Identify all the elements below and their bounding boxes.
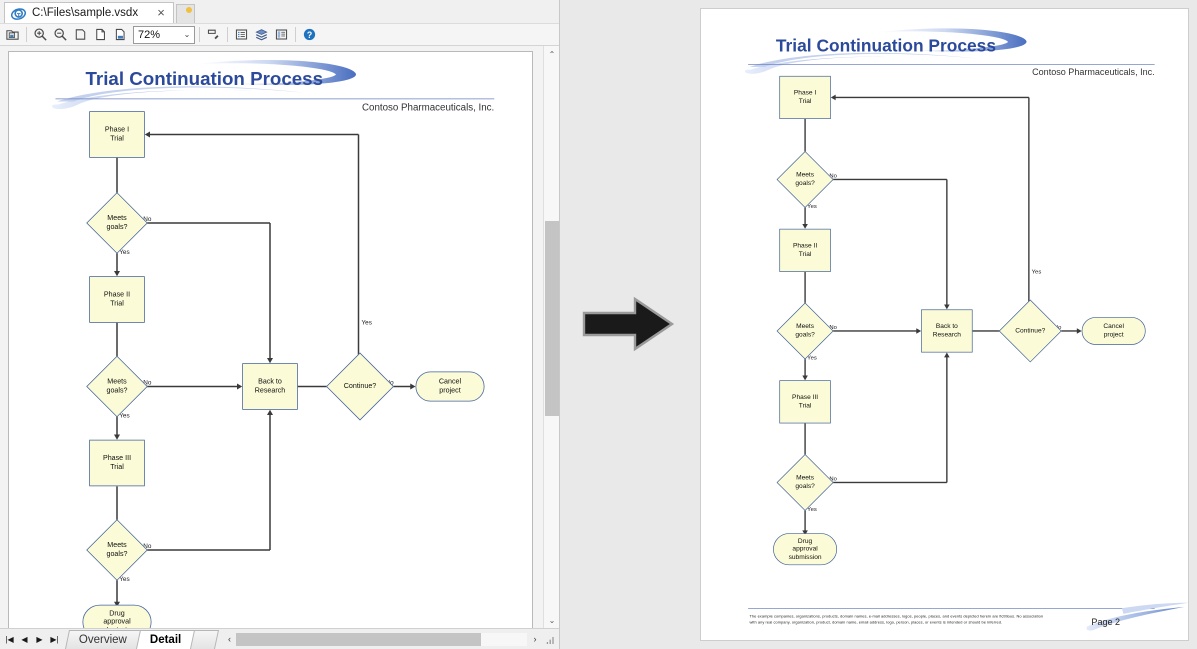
diagram-right: Trial Continuation ProcessContoso Pharma… <box>705 21 1189 577</box>
flow-node-drug-label: Drugapprovalsubmission <box>98 609 137 628</box>
flow-node-drug: Drugapprovalsubmission <box>773 533 837 565</box>
document-title: Trial Continuation Process <box>776 36 996 56</box>
previous-page-button[interactable]: ◀ <box>17 631 32 648</box>
resize-grip[interactable] <box>543 633 555 645</box>
flow-node-phase2: Phase IITrial <box>89 276 145 323</box>
toolbar-separator-4 <box>295 27 296 42</box>
flow-node-continue-label: Continue? <box>312 363 408 411</box>
hscroll-left-button[interactable]: ‹ <box>222 634 236 644</box>
flow-node-continue-label: Continue? <box>986 309 1075 353</box>
horizontal-scrollbar-thumb[interactable] <box>236 633 481 646</box>
sheet-tab-overview-label: Overview <box>79 634 127 646</box>
actual-size-icon[interactable] <box>91 25 110 44</box>
footer-rule <box>748 608 1155 609</box>
rendered-preview-panel: Trial Continuation ProcessContoso Pharma… <box>700 8 1189 641</box>
toolbar-separator-2 <box>199 27 200 42</box>
title-band: Trial Continuation ProcessContoso Pharma… <box>56 61 495 108</box>
connector <box>269 414 270 550</box>
zoom-in-icon[interactable] <box>31 25 50 44</box>
connector <box>269 223 270 359</box>
help-icon[interactable]: ? <box>300 25 319 44</box>
flow-node-back: Back toResearch <box>921 309 972 352</box>
flow-node-phase3: Phase IIITrial <box>779 380 830 423</box>
scroll-down-button[interactable]: ⌄ <box>544 612 559 628</box>
new-tab-button[interactable] <box>176 4 195 23</box>
next-page-button[interactable]: ▶ <box>32 631 47 648</box>
toolbar-separator-3 <box>227 27 228 42</box>
sheet-tab-bar: Overview Detail <box>67 630 216 649</box>
sheet-tab-detail-label: Detail <box>150 634 181 646</box>
properties-icon[interactable] <box>232 25 251 44</box>
flow-node-back: Back toResearch <box>242 363 298 410</box>
flow-node-cancel-label: Cancelproject <box>437 378 462 395</box>
flow-node-phase1-label: Phase ITrial <box>792 89 817 105</box>
layers-icon[interactable] <box>252 25 271 44</box>
connector <box>946 357 947 483</box>
flow-node-phase2-label: Phase IITrial <box>102 291 131 308</box>
zoom-level-combo[interactable]: 72% ⌄ <box>133 26 195 44</box>
horizontal-scrollbar[interactable]: ‹ › <box>222 632 543 646</box>
flow-node-cancel-label: Cancelproject <box>1102 323 1125 339</box>
horizontal-scrollbar-track[interactable] <box>236 633 527 646</box>
document-tab[interactable]: C:\Files\sample.vsdx × <box>4 2 174 23</box>
edge-label-continue-yes: Yes <box>362 318 372 326</box>
flow-node-meets3-label: Meetsgoals? <box>765 462 846 502</box>
document-canvas: Trial Continuation ProcessContoso Pharma… <box>0 46 559 628</box>
connector <box>835 97 1029 98</box>
svg-text:?: ? <box>307 30 312 40</box>
flow-node-meets1-label: Meetsgoals? <box>765 159 846 199</box>
toolbar-separator <box>26 27 27 42</box>
last-page-button[interactable]: ▶| <box>47 631 62 648</box>
flow-node-phase1-label: Phase ITrial <box>103 126 130 143</box>
arrowhead <box>267 410 273 415</box>
tab-title: C:\Files\sample.vsdx <box>32 7 148 19</box>
flow-node-phase3: Phase IIITrial <box>89 440 145 487</box>
company-name: Contoso Pharmaceuticals, Inc. <box>1032 67 1155 77</box>
hscroll-right-button[interactable]: › <box>527 634 543 644</box>
page-number: Page 2 <box>1091 617 1120 627</box>
internet-explorer-icon <box>11 6 26 21</box>
zoom-out-icon[interactable] <box>51 25 70 44</box>
pages-panel-icon[interactable] <box>272 25 291 44</box>
edge-label-continue-yes: Yes <box>1032 268 1042 275</box>
open-file-icon[interactable] <box>3 25 22 44</box>
process-arrow <box>580 292 676 356</box>
flow-node-cancel: Cancelproject <box>1082 317 1146 345</box>
flow-node-meets2-label: Meetsgoals? <box>74 365 161 409</box>
status-bar: |◀ ◀ ▶ ▶| Overview Detail ‹ › <box>0 628 559 649</box>
chevron-down-icon: ⌄ <box>180 30 194 39</box>
title-band: Trial Continuation ProcessContoso Pharma… <box>748 29 1155 72</box>
document-footer: The example companies, organizations, pr… <box>705 608 1189 641</box>
title-rule <box>56 99 495 100</box>
sheet-tab-overview[interactable]: Overview <box>65 630 141 649</box>
diagram-left: Trial Continuation ProcessContoso Pharma… <box>9 52 533 628</box>
vertical-scrollbar-thumb[interactable] <box>545 221 559 416</box>
flow-node-back-label: Back toResearch <box>931 323 962 339</box>
viewer-toolbar: 72% ⌄ <box>0 24 559 46</box>
flow-node-phase1: Phase ITrial <box>779 76 830 119</box>
fit-page-icon[interactable] <box>71 25 90 44</box>
flow-node-phase3-label: Phase IIITrial <box>791 394 820 410</box>
flow-node-phase2: Phase IITrial <box>779 229 830 272</box>
flow-node-meets2-label: Meetsgoals? <box>765 311 846 351</box>
tab-strip: C:\Files\sample.vsdx × <box>0 0 559 24</box>
flow-node-phase3-label: Phase IIITrial <box>101 454 132 471</box>
flow-node-phase1: Phase ITrial <box>89 111 145 158</box>
flow-node-cancel: Cancelproject <box>416 372 485 402</box>
visio-viewer-window: C:\Files\sample.vsdx × <box>0 0 560 649</box>
flow-node-meets3-label: Meetsgoals? <box>74 528 161 572</box>
document-title: Trial Continuation Process <box>86 69 324 91</box>
arrowhead <box>944 353 950 358</box>
connector <box>358 135 359 365</box>
arrowhead <box>831 94 836 100</box>
flow-node-drug-label: Drugapprovalsubmission <box>787 537 823 561</box>
vertical-scrollbar[interactable]: ⌃ ⌄ <box>543 46 559 628</box>
fit-width-icon[interactable] <box>111 25 130 44</box>
title-rule <box>748 64 1155 65</box>
flow-node-meets1-label: Meetsgoals? <box>74 201 161 245</box>
screenshot-root: C:\Files\sample.vsdx × <box>0 0 1197 649</box>
company-name: Contoso Pharmaceuticals, Inc. <box>362 102 494 113</box>
connector <box>946 179 947 305</box>
arrowhead <box>145 131 150 137</box>
scroll-up-button[interactable]: ⌃ <box>544 46 559 62</box>
close-tab-button[interactable]: × <box>154 6 168 20</box>
zoom-level-value: 72% <box>134 29 180 41</box>
sheet-tab-detail[interactable]: Detail <box>136 630 195 649</box>
first-page-button[interactable]: |◀ <box>2 631 17 648</box>
flow-node-drug: Drugapprovalsubmission <box>83 605 152 628</box>
flow-node-back-label: Back toResearch <box>253 378 287 395</box>
pan-tool-icon[interactable] <box>204 25 223 44</box>
connector <box>1028 97 1029 310</box>
page-sheet-left: Trial Continuation ProcessContoso Pharma… <box>8 51 533 628</box>
flow-node-phase2-label: Phase IITrial <box>792 242 819 258</box>
connector <box>149 134 358 135</box>
footer-disclaimer: The example companies, organizations, pr… <box>749 614 1048 626</box>
